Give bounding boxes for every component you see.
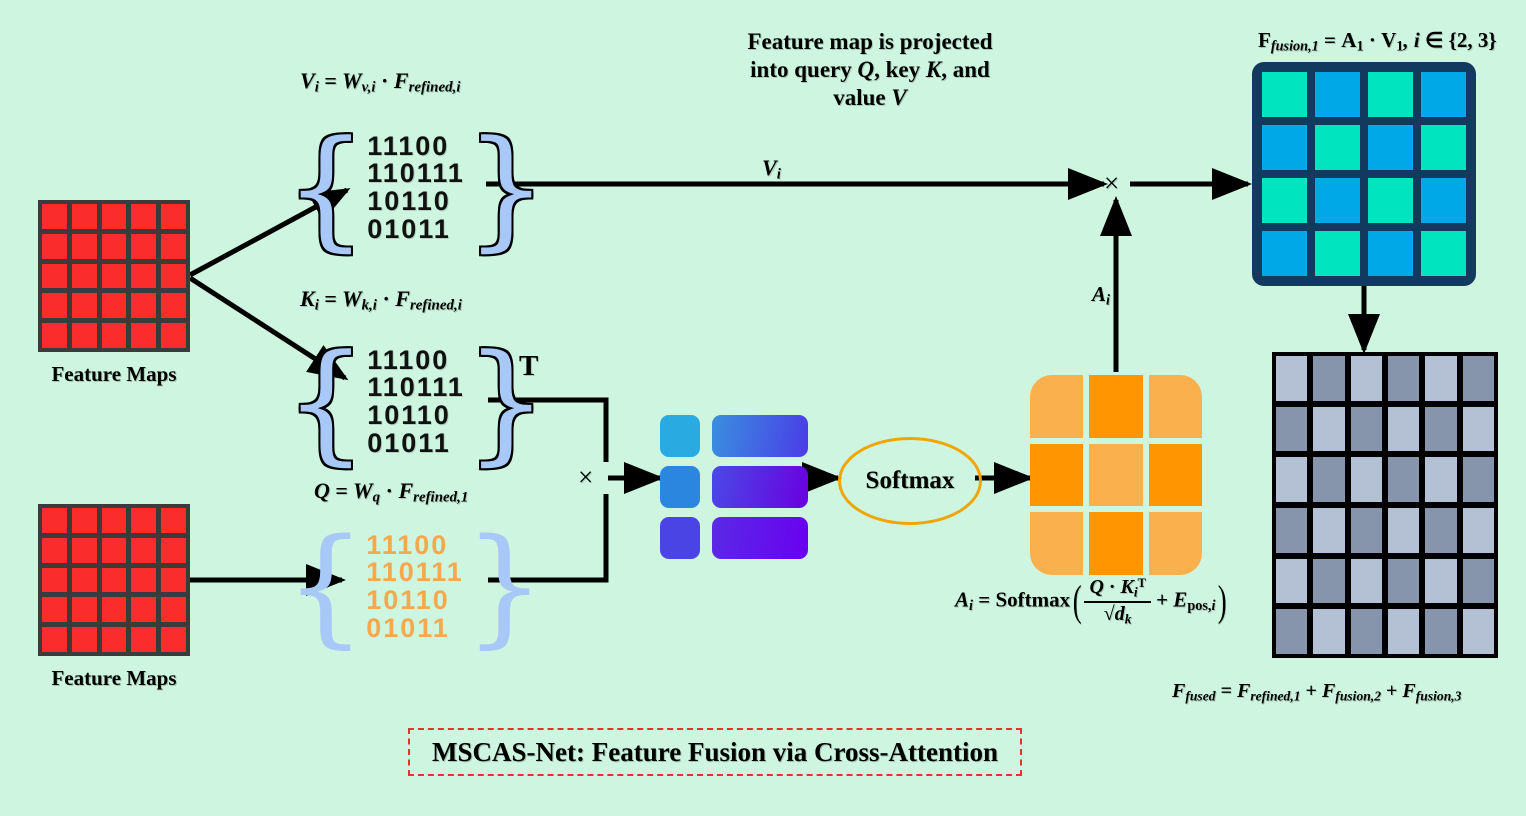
fused-cell (1463, 508, 1494, 553)
fusion-cell (1262, 231, 1307, 276)
qk-block-small (660, 466, 700, 508)
feature-map-cell (42, 234, 67, 259)
feature-map-cell (102, 568, 127, 593)
feature-map-cell (42, 568, 67, 593)
fused-cell (1388, 356, 1419, 401)
feature-map-cell (161, 597, 186, 622)
fusion-cell (1421, 125, 1466, 170)
fused-cell (1351, 559, 1382, 604)
feature-map-cell (131, 508, 156, 533)
feature-map-cell (161, 264, 186, 289)
attention-cell (1089, 512, 1142, 575)
feature-map-cell (102, 597, 127, 622)
feature-map-cell (102, 323, 127, 348)
matrix-row: 01011 (366, 615, 464, 643)
feature-map-cell (161, 627, 186, 652)
fusion-cell (1421, 72, 1466, 117)
matrix-row: 110111 (366, 559, 464, 587)
right-brace-icon: } (464, 533, 545, 642)
feature-map-cell (131, 234, 156, 259)
feature-map-cell (72, 538, 97, 563)
query-matrix-bits: 11100 110111 10110 01011 (366, 532, 464, 642)
feature-map-bottom[interactable] (38, 504, 190, 656)
feature-map-cell (42, 293, 67, 318)
feature-map-cell (161, 568, 186, 593)
fused-cell (1351, 356, 1382, 401)
left-brace-icon: { (284, 347, 367, 458)
qk-product-blocks[interactable] (660, 415, 808, 559)
attention-flow-label: Ai (1092, 282, 1110, 310)
fused-cell (1313, 356, 1344, 401)
feature-map-cell (42, 597, 67, 622)
matrix-row: 01011 (367, 430, 465, 458)
fusion-cell (1262, 125, 1307, 170)
note-symbol-v: V (891, 85, 906, 110)
value-flow-subscript: i (777, 167, 781, 183)
multiply-node-qk: × (578, 462, 593, 493)
feature-map-cell (42, 538, 67, 563)
feature-map-cell (161, 234, 186, 259)
feature-map-cell (72, 627, 97, 652)
matrix-row: 110111 (367, 374, 465, 402)
fusion-cell (1315, 125, 1360, 170)
fused-cell (1313, 559, 1344, 604)
fused-cell (1388, 559, 1419, 604)
value-equation: Vi = Wv,i · Frefined,i (300, 68, 461, 97)
feature-map-cell (72, 568, 97, 593)
fusion-cell (1368, 178, 1413, 223)
fusion-equation: Ffusion,1 = A1 · V1, i ∈ {2, 3} (1258, 28, 1497, 56)
fusion-cell (1421, 231, 1466, 276)
fused-cell (1313, 508, 1344, 553)
value-flow-label: Vi (762, 155, 781, 184)
attention-cell (1149, 375, 1202, 438)
right-brace-icon: } (465, 133, 548, 244)
fused-cell (1463, 407, 1494, 452)
attention-cell (1030, 512, 1083, 575)
feature-map-cell (161, 508, 186, 533)
matrix-row: 11100 (366, 532, 464, 560)
feature-map-cell (131, 538, 156, 563)
feature-map-cell (102, 538, 127, 563)
note-symbol-q: Q (858, 57, 875, 82)
fused-equation: Ffused = Frefined,1 + Ffusion,2 + Ffusio… (1172, 680, 1461, 704)
feature-map-cell (102, 508, 127, 533)
projection-note-line-2: into query Q, key K, and (730, 56, 1010, 84)
caption-text: MSCAS-Net: Feature Fusion via Cross-Atte… (432, 737, 998, 768)
note-text-a: into query (750, 57, 857, 82)
fused-cell (1351, 508, 1382, 553)
matrix-row: 10110 (367, 188, 465, 216)
matrix-row: 11100 (367, 133, 465, 161)
fusion-cell (1315, 231, 1360, 276)
feature-map-cell (72, 508, 97, 533)
attention-flow-subscript: i (1106, 293, 1110, 309)
fused-cell (1388, 609, 1419, 654)
feature-map-cell (161, 293, 186, 318)
fused-cell (1276, 407, 1307, 452)
query-matrix[interactable]: { 11100 110111 10110 01011 } (342, 512, 488, 662)
note-text-b: , key (874, 57, 926, 82)
fused-cell (1463, 457, 1494, 502)
projection-note-line-3: value V (730, 84, 1010, 112)
fused-cell (1425, 356, 1456, 401)
feature-map-cell (102, 627, 127, 652)
fusion-cell (1315, 72, 1360, 117)
feature-map-cell (72, 323, 97, 348)
transpose-symbol: T (519, 350, 538, 382)
fusion-cell (1368, 125, 1413, 170)
matrix-row: 10110 (367, 402, 465, 430)
attention-equation: Ai = Softmax(Q · KiT√dk + Epos,i) (955, 576, 1230, 627)
feature-map-top-label: Feature Maps (28, 362, 200, 387)
feature-map-cell (72, 204, 97, 229)
feature-map-cell (42, 323, 67, 348)
fusion-cell (1368, 231, 1413, 276)
diagram-caption: MSCAS-Net: Feature Fusion via Cross-Atte… (408, 728, 1022, 776)
fused-cell (1463, 559, 1494, 604)
value-matrix-bits: 11100 110111 10110 01011 (367, 133, 465, 243)
key-matrix[interactable]: { 11100 110111 10110 01011 } (346, 322, 486, 482)
qk-block-wide (712, 415, 808, 457)
note-text-value: value (833, 85, 891, 110)
feature-map-cell (42, 264, 67, 289)
left-brace-icon: { (285, 533, 366, 642)
multiply-symbol: × (1104, 168, 1119, 198)
fused-cell (1276, 457, 1307, 502)
feature-map-cell (131, 597, 156, 622)
fusion-cell (1262, 178, 1307, 223)
feature-map-cell (131, 323, 156, 348)
feature-map-cell (102, 293, 127, 318)
fused-cell (1425, 457, 1456, 502)
note-text-c: , and (941, 57, 990, 82)
fused-cell (1351, 457, 1382, 502)
fusion-cell (1262, 72, 1307, 117)
fused-cell (1388, 407, 1419, 452)
attention-matrix[interactable] (1030, 375, 1202, 575)
feature-map-cell (42, 204, 67, 229)
fusion-cell (1368, 72, 1413, 117)
qk-block-small (660, 517, 700, 559)
feature-map-cell (72, 293, 97, 318)
feature-map-cell (72, 264, 97, 289)
note-symbol-k: K (926, 57, 941, 82)
attention-cell (1149, 512, 1202, 575)
matrix-row: 11100 (367, 347, 465, 375)
key-matrix-bits: 11100 110111 10110 01011 (367, 347, 465, 457)
projection-note-line-1: Feature map is projected (730, 28, 1010, 56)
fusion-cell (1315, 178, 1360, 223)
matrix-row: 01011 (367, 216, 465, 244)
fused-cell (1425, 559, 1456, 604)
fused-cell (1388, 508, 1419, 553)
fused-cell (1425, 407, 1456, 452)
feature-map-bottom-label: Feature Maps (28, 666, 200, 691)
feature-map-top[interactable] (38, 200, 190, 352)
feature-map-cell (42, 508, 67, 533)
fused-cell (1425, 609, 1456, 654)
fused-cell (1463, 356, 1494, 401)
fused-cell (1276, 508, 1307, 553)
left-brace-icon: { (284, 133, 367, 244)
attention-flow-symbol: A (1092, 282, 1106, 306)
projection-note: Feature map is projected into query Q, k… (730, 28, 1010, 112)
diagram-canvas: Feature map is projected into query Q, k… (0, 0, 1526, 816)
fusion-cell (1421, 178, 1466, 223)
feature-map-cell (131, 264, 156, 289)
fused-cell (1313, 609, 1344, 654)
attention-cell (1149, 444, 1202, 507)
query-equation: Q = Wq · Frefined,1 (314, 478, 468, 507)
multiply-node-top: × (1104, 168, 1119, 199)
feature-map-cell (131, 204, 156, 229)
matrix-row: 10110 (366, 587, 464, 615)
softmax-node[interactable]: Softmax (838, 437, 982, 525)
multiply-symbol: × (578, 462, 593, 492)
fused-cell (1388, 457, 1419, 502)
feature-map-cell (72, 234, 97, 259)
qk-block-wide (712, 466, 808, 508)
fused-cell (1276, 559, 1307, 604)
fused-matrix[interactable] (1272, 352, 1498, 658)
attention-cell (1089, 375, 1142, 438)
attention-cell (1030, 375, 1083, 438)
fused-cell (1313, 407, 1344, 452)
fusion-matrix[interactable] (1252, 62, 1476, 286)
qk-block-small (660, 415, 700, 457)
feature-map-cell (72, 597, 97, 622)
matrix-row: 110111 (367, 160, 465, 188)
feature-map-cell (131, 568, 156, 593)
feature-map-cell (161, 538, 186, 563)
transpose-label: T (519, 350, 538, 383)
value-flow-symbol: V (762, 155, 777, 180)
feature-map-cell (102, 264, 127, 289)
feature-map-cell (102, 234, 127, 259)
feature-map-cell (161, 323, 186, 348)
feature-map-cell (161, 204, 186, 229)
attention-cell (1089, 444, 1142, 507)
key-equation: Ki = Wk,i · Frefined,i (300, 286, 462, 315)
feature-map-cell (42, 627, 67, 652)
fused-cell (1276, 356, 1307, 401)
fused-cell (1313, 457, 1344, 502)
fused-cell (1276, 609, 1307, 654)
value-matrix[interactable]: { 11100 110111 10110 01011 } (346, 108, 486, 268)
fused-cell (1463, 609, 1494, 654)
qk-block-wide (712, 517, 808, 559)
fused-cell (1351, 609, 1382, 654)
feature-map-cell (131, 293, 156, 318)
fused-cell (1351, 407, 1382, 452)
feature-map-cell (102, 204, 127, 229)
softmax-label: Softmax (866, 467, 955, 495)
attention-cell (1030, 444, 1083, 507)
fused-cell (1425, 508, 1456, 553)
feature-map-cell (131, 627, 156, 652)
